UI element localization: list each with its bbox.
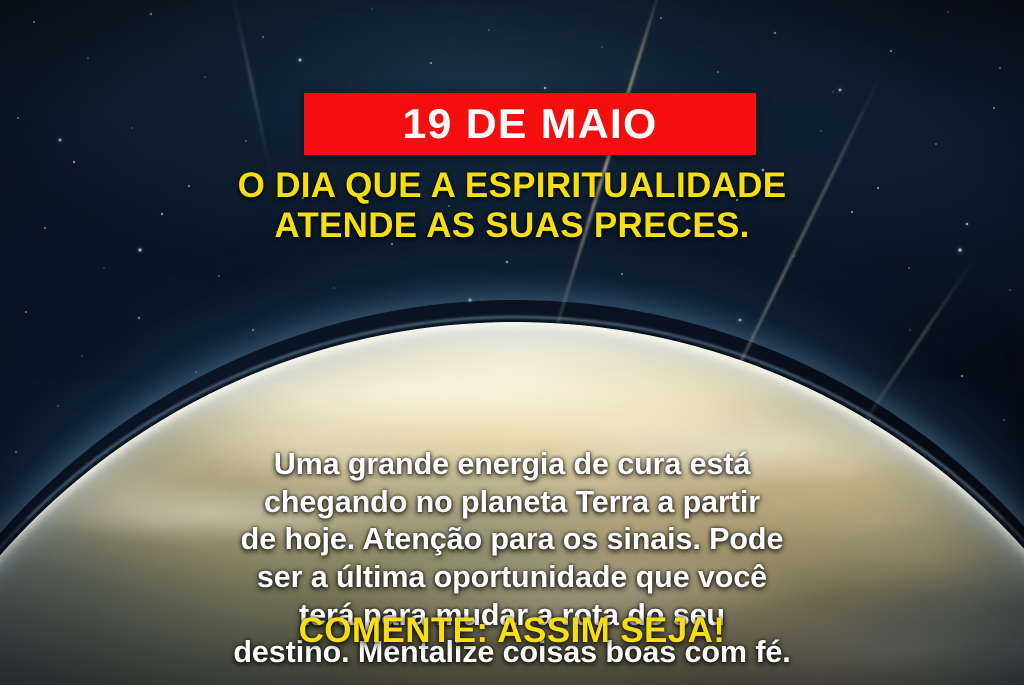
headline: O DIA QUE A ESPIRITUALIDADE ATENDE AS SU… [0,166,1024,245]
body-line-3: de hoje. Atenção para os sinais. Pode [52,521,972,559]
body-line-1: Uma grande energia de cura está [52,446,972,484]
poster-canvas: 19 DE MAIO O DIA QUE A ESPIRITUALIDADE A… [0,0,1024,685]
headline-line-2: ATENDE AS SUAS PRECES. [22,206,1002,246]
date-banner-label: 19 DE MAIO [402,103,657,145]
poster-content: 19 DE MAIO O DIA QUE A ESPIRITUALIDADE A… [0,0,1024,685]
date-banner: 19 DE MAIO [304,93,756,155]
body-line-2: chegando no planeta Terra a partir [52,484,972,522]
body-line-4: ser a última oportunidade que você [52,559,972,597]
call-to-action-text: COMENTE: ASSIM SEJA! [0,613,1024,648]
headline-line-1: O DIA QUE A ESPIRITUALIDADE [22,166,1002,206]
